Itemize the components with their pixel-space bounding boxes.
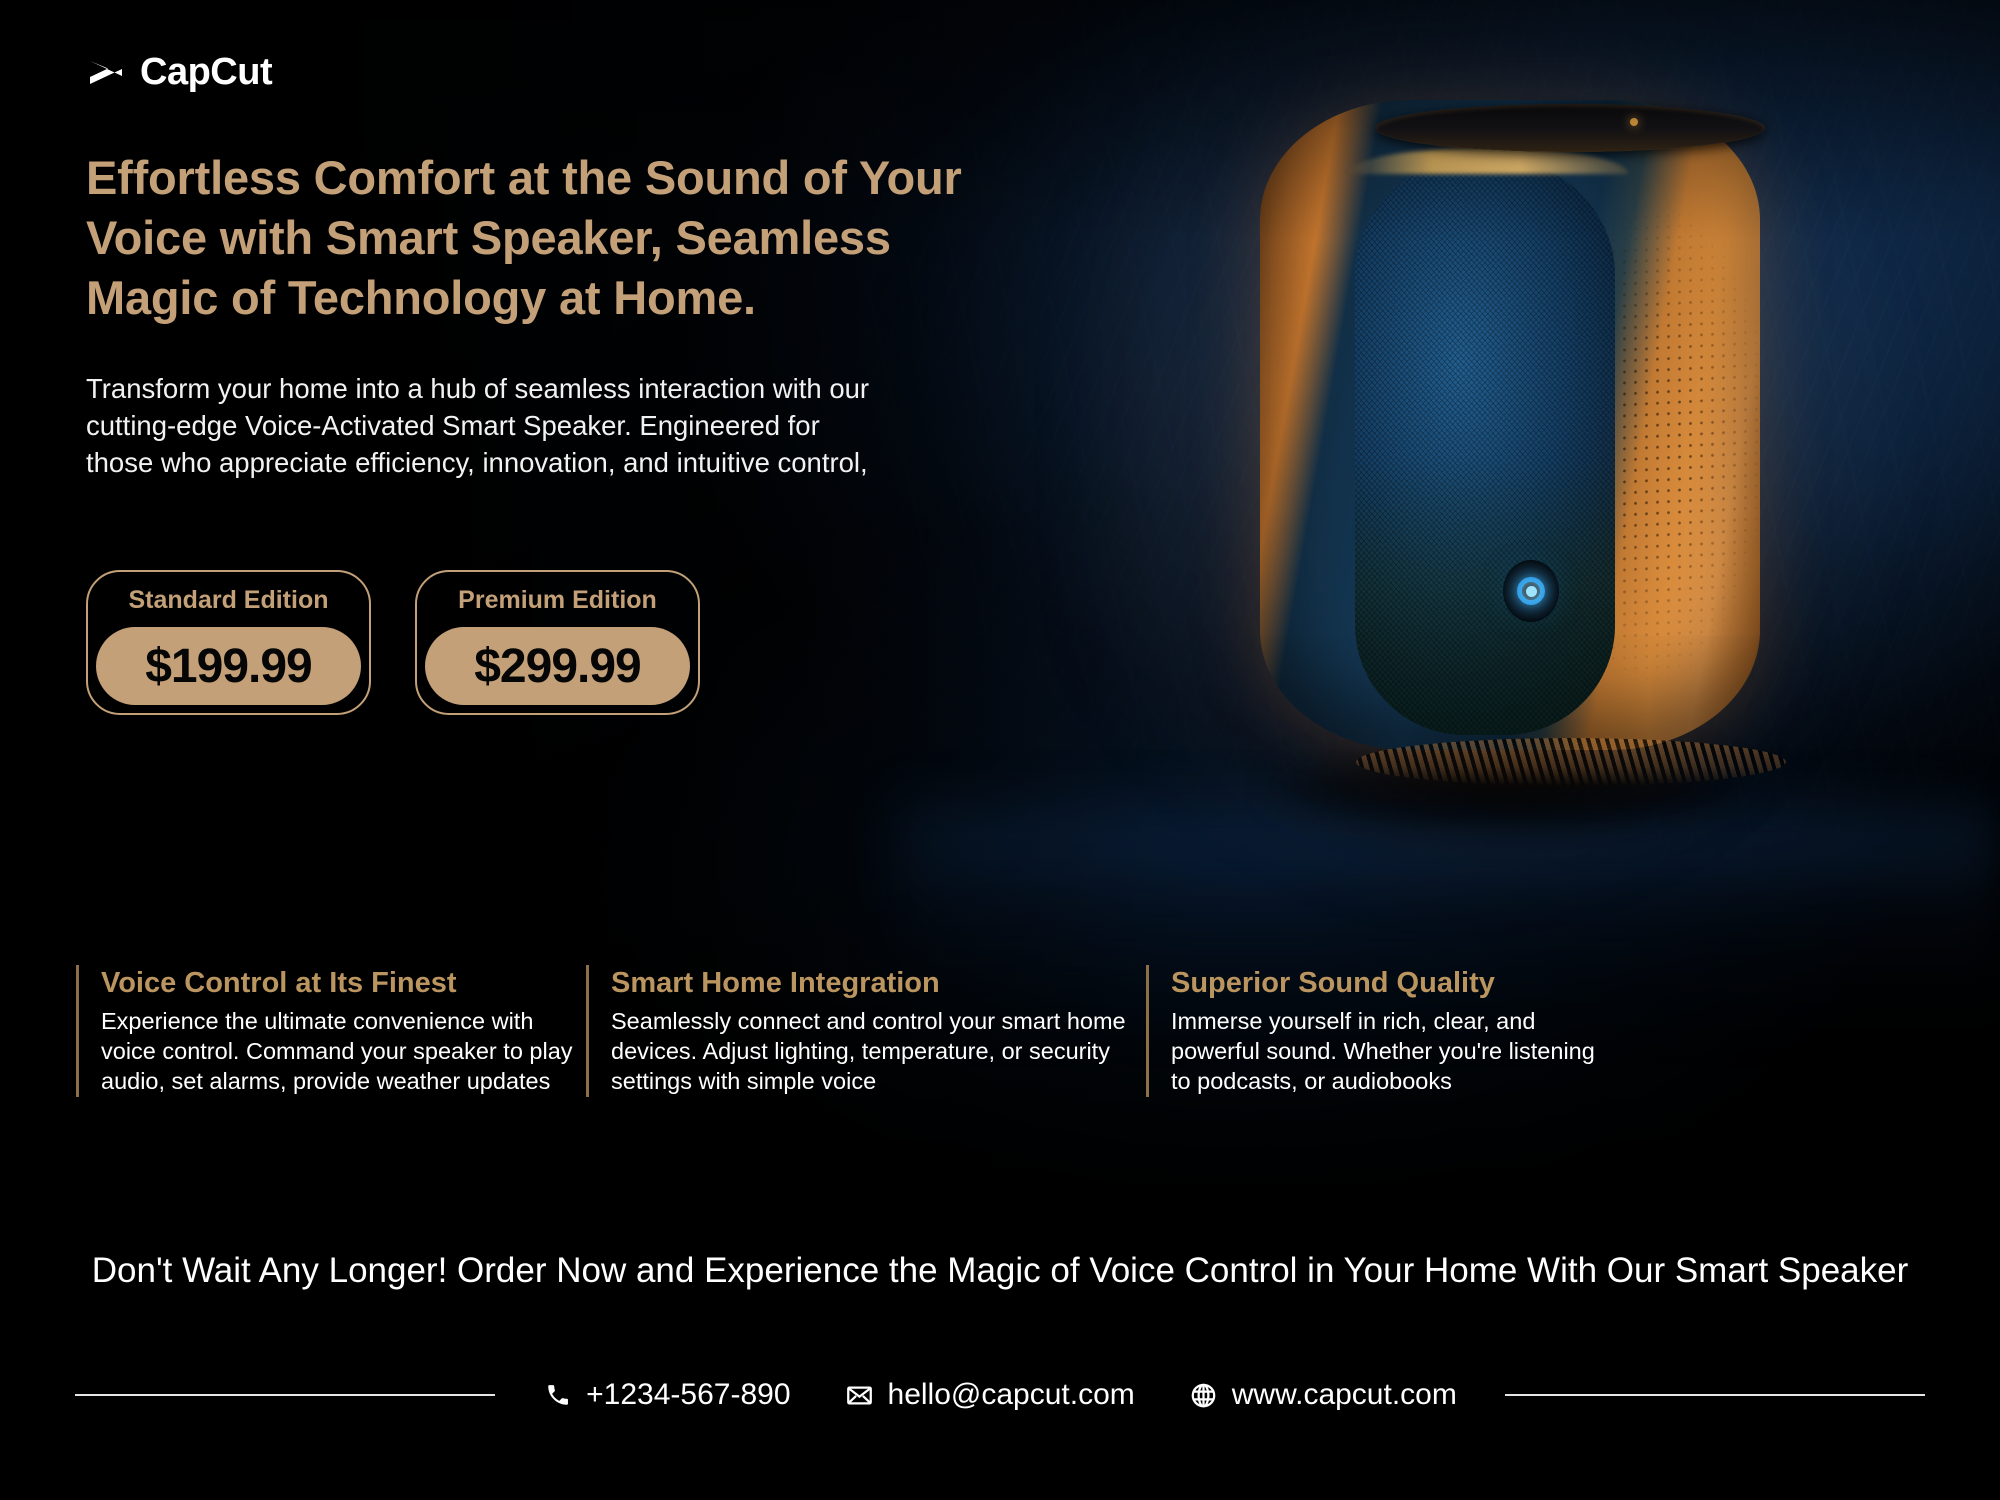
price-card-amount: $299.99 (425, 627, 690, 705)
feature-smart-home-integration: Smart Home Integration Seamlessly connec… (586, 965, 1126, 1097)
contact-email-text: hello@capcut.com (888, 1378, 1135, 1412)
feature-title: Voice Control at Its Finest (101, 965, 576, 1001)
feature-body: Immerse yourself in rich, clear, and pow… (1171, 1007, 1616, 1097)
feature-body: Seamlessly connect and control your smar… (611, 1007, 1126, 1097)
feature-body: Experience the ultimate convenience with… (101, 1007, 576, 1097)
contact-rule-left (75, 1394, 495, 1396)
contact-items: +1234-567-890 hello@capcut.com (543, 1378, 1457, 1412)
price-card-label: Premium Edition (458, 586, 657, 615)
contact-phone[interactable]: +1234-567-890 (543, 1378, 790, 1412)
capcut-logo-icon (86, 52, 126, 92)
globe-icon (1189, 1380, 1219, 1410)
poster-content: CapCut Effortless Comfort at the Sound o… (0, 0, 2000, 1500)
envelope-icon (845, 1380, 875, 1410)
phone-icon (543, 1380, 573, 1410)
price-card-premium[interactable]: Premium Edition $299.99 (415, 570, 700, 715)
feature-title: Smart Home Integration (611, 965, 1126, 1001)
contact-website[interactable]: www.capcut.com (1189, 1378, 1457, 1412)
price-card-amount: $199.99 (96, 627, 361, 705)
contact-phone-text: +1234-567-890 (586, 1378, 790, 1412)
contact-email[interactable]: hello@capcut.com (845, 1378, 1135, 1412)
contact-bar: +1234-567-890 hello@capcut.com (0, 1378, 2000, 1412)
hero-subtext: Transform your home into a hub of seamle… (86, 370, 886, 481)
features-group: Voice Control at Its Finest Experience t… (76, 965, 1936, 1097)
price-card-standard[interactable]: Standard Edition $199.99 (86, 570, 371, 715)
call-to-action-text: Don't Wait Any Longer! Order Now and Exp… (0, 1248, 2000, 1295)
price-card-label: Standard Edition (129, 586, 329, 615)
feature-title: Superior Sound Quality (1171, 965, 1616, 1001)
pricing-group: Standard Edition $199.99 Premium Edition… (86, 570, 700, 715)
contact-website-text: www.capcut.com (1232, 1378, 1457, 1412)
contact-rule-right (1505, 1394, 1925, 1396)
brand-name: CapCut (140, 53, 272, 91)
brand-logo[interactable]: CapCut (86, 52, 272, 92)
feature-voice-control: Voice Control at Its Finest Experience t… (76, 965, 576, 1097)
feature-superior-sound-quality: Superior Sound Quality Immerse yourself … (1146, 965, 1616, 1097)
headline: Effortless Comfort at the Sound of Your … (86, 148, 966, 328)
